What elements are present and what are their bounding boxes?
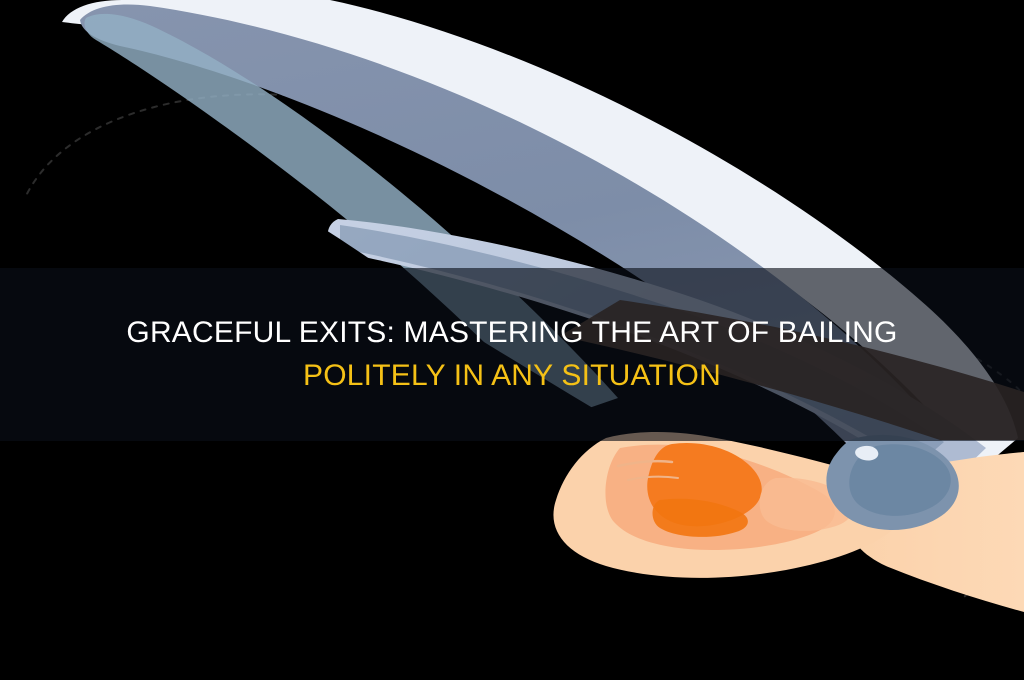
title-line-2: POLITELY IN ANY SITUATION bbox=[303, 355, 721, 398]
title-block: GRACEFUL EXITS: MASTERING THE ART OF BAI… bbox=[0, 268, 1024, 441]
hero-image: GRACEFUL EXITS: MASTERING THE ART OF BAI… bbox=[0, 0, 1024, 680]
title-line-1: GRACEFUL EXITS: MASTERING THE ART OF BAI… bbox=[126, 312, 897, 355]
